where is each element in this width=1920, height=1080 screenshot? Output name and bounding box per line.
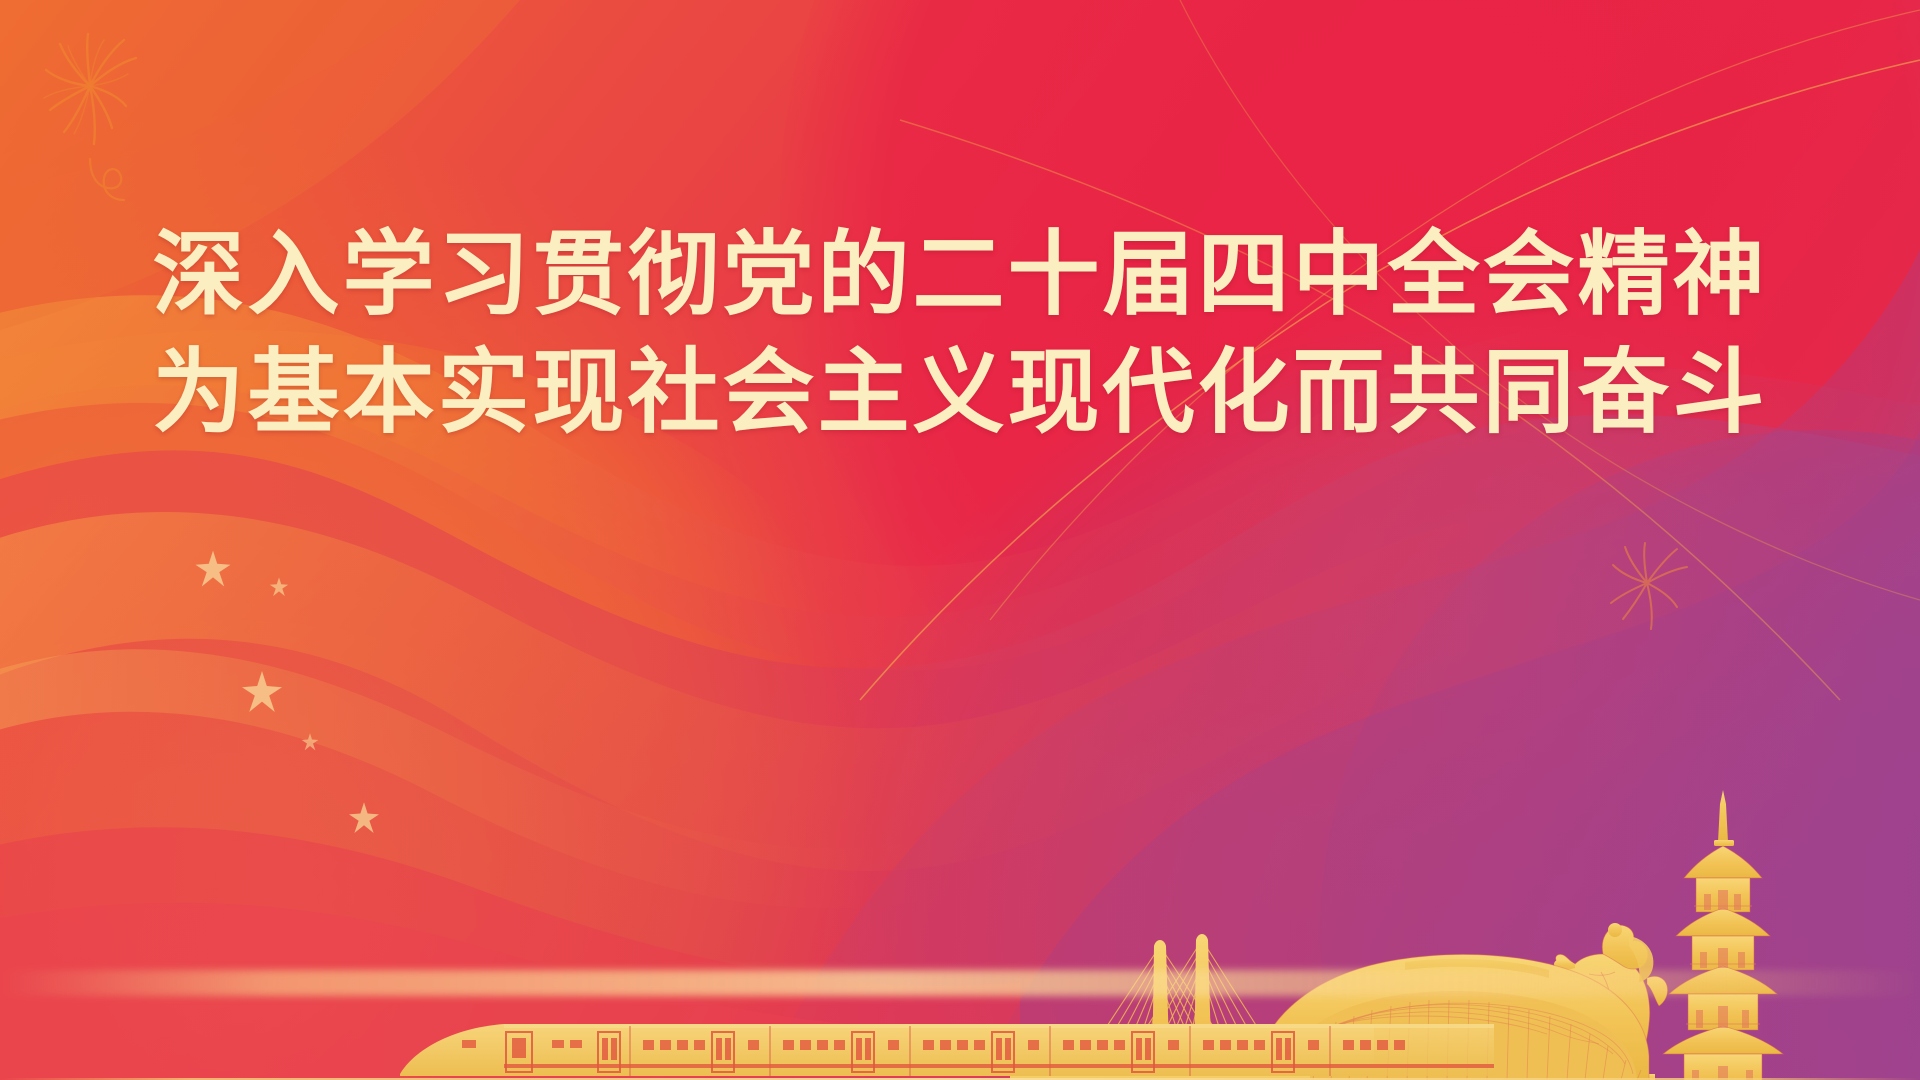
banner-title: 深入学习贯彻党的二十届四中全会精神 为基本实现社会主义现代化而共同奋斗 [0, 216, 1920, 452]
firework-icon [1595, 525, 1705, 645]
skyline-illustration [0, 660, 1920, 1080]
high-speed-train-icon [400, 1024, 1494, 1080]
title-line-1: 深入学习贯彻党的二十届四中全会精神 [0, 216, 1920, 334]
star-icon [268, 576, 290, 598]
ground-glow [0, 970, 1920, 996]
star-icon [192, 548, 234, 590]
firework-icon [28, 14, 178, 204]
propaganda-banner: 深入学习贯彻党的二十届四中全会精神 为基本实现社会主义现代化而共同奋斗 [0, 0, 1920, 1080]
pagoda-icon [1644, 790, 1802, 1080]
title-line-2: 为基本实现社会主义现代化而共同奋斗 [0, 334, 1920, 452]
